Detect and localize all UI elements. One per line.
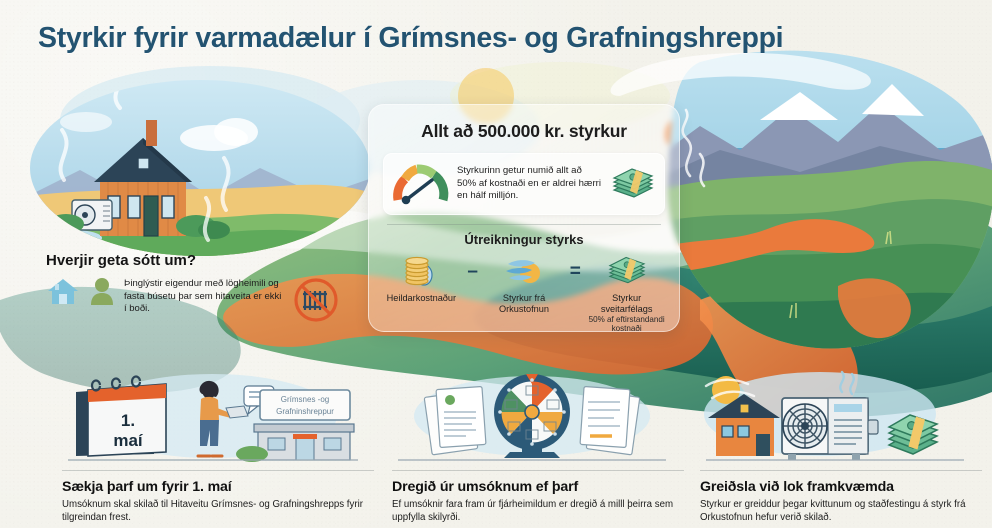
person-icon — [88, 275, 116, 307]
section-description: Umsóknum skal skilað til Hitaveitu Gríms… — [62, 498, 374, 524]
calendar-month: maí — [113, 431, 144, 450]
bottom-section-lottery: Dregið úr umsóknum ef þarf Ef umsóknir f… — [392, 368, 684, 524]
document-right — [580, 386, 640, 454]
who-can-apply-title: Hverjir geta sótt um? — [46, 252, 366, 269]
building-sign-line2: Grafninshreppur — [276, 407, 334, 416]
section-divider — [62, 470, 374, 471]
section-divider — [392, 470, 684, 471]
heatpump-house-money-illustration — [700, 368, 982, 464]
calc-item-orkustofnun: Styrkur frá Orkustofnun — [486, 252, 563, 315]
money-stack-icon — [610, 164, 656, 204]
card-heading: Allt að 500.000 kr. styrkur — [383, 121, 665, 142]
gauge-description: Styrkurinn getur numið allt að 50% af ko… — [457, 165, 603, 203]
section-title: Sækja þarf um fyrir 1. maí — [62, 479, 374, 495]
orkustofnun-icon — [502, 254, 546, 288]
infographic-poster: Styrkir fyrir varmadælur í Grímsnes- og … — [0, 0, 992, 528]
equals-icon: = — [564, 252, 586, 290]
money-stack-icon — [604, 253, 650, 289]
bottom-section-payment: Greiðsla við lok framkvæmda Styrkur er g… — [700, 368, 982, 524]
calculation-row: Heildarkostnaður – Styrkur frá Orkustofn… — [383, 252, 665, 333]
coin-stack-icon — [401, 253, 441, 289]
no-radiator-icon — [290, 275, 342, 325]
minus-icon: – — [462, 252, 484, 290]
calc-item-total-cost: Heildarkostnaður — [383, 252, 460, 304]
who-can-apply-text: Þinglýstir eigendur með lögheimili og fa… — [124, 275, 284, 316]
calc-label: Styrkur sveitarfélags — [588, 293, 665, 315]
who-can-apply-section: Hverjir geta sótt um? Þinglýstir eigendu… — [46, 252, 366, 325]
document-left — [424, 386, 486, 454]
section-description: Ef umsóknir fara fram úr fjárheimildum e… — [392, 498, 684, 524]
gauge-icon — [392, 162, 450, 206]
building-sign-line1: Grímsnes -og — [281, 395, 329, 404]
calc-label: Styrkur frá Orkustofnun — [486, 293, 563, 315]
calendar-day: 1. — [121, 411, 135, 430]
section-divider — [700, 470, 982, 471]
house-icon — [46, 275, 80, 307]
card-divider — [387, 224, 661, 225]
page-title: Styrkir fyrir varmadælur í Grímsnes- og … — [38, 22, 783, 55]
section-description: Styrkur er greiddur þegar kvittunum og s… — [700, 498, 982, 524]
calc-sublabel: 50% af eftirstandandi kostnaði — [588, 315, 665, 333]
prize-wheel-documents-illustration — [392, 368, 684, 464]
section-title: Dregið úr umsóknum ef þarf — [392, 479, 684, 495]
gauge-info-box: Styrkurinn getur numið allt að 50% af ko… — [383, 153, 665, 215]
calc-label: Heildarkostnaður — [383, 293, 460, 304]
grant-summary-card: Allt að 500.000 kr. styrkur Styrkurinn g… — [368, 104, 680, 332]
section-title: Greiðsla við lok framkvæmda — [700, 479, 982, 495]
calc-item-municipal-grant: Styrkur sveitarfélags 50% af eftirstanda… — [588, 252, 665, 333]
bottom-section-deadline: 1. maí — [62, 368, 374, 524]
calendar-person-townhall-illustration: 1. maí — [62, 368, 374, 464]
calculation-title: Útreikningur styrks — [383, 232, 665, 247]
